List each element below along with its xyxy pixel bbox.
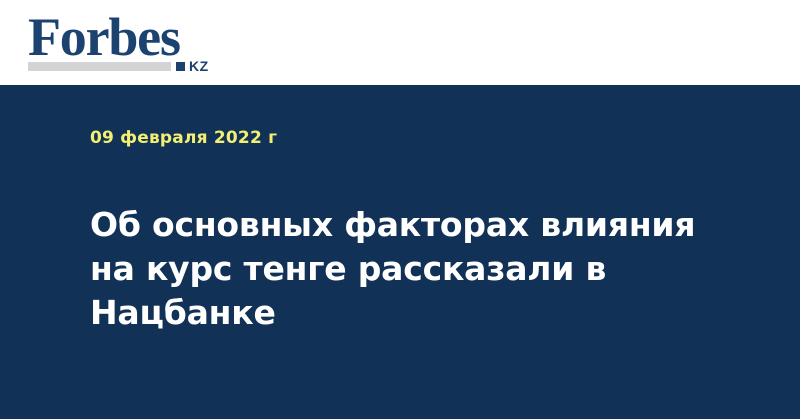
site-header: Forbes KZ [0,0,800,85]
hero-panel: 09 февраля 2022 г Об основных факторах в… [0,85,800,419]
brand-square-icon [176,62,185,71]
article-date: 09 февраля 2022 г [90,128,277,148]
forbes-kz-logo[interactable]: Forbes KZ [28,10,238,78]
article-hero-page: Forbes KZ 09 февраля 2022 г Об основных … [0,0,800,419]
forbes-wordmark: Forbes [28,10,180,64]
page-title: Об основных факторах влияния на курс тен… [90,203,710,335]
forbes-kz-suffix: KZ [189,59,209,73]
brand-rule-divider [28,62,171,71]
